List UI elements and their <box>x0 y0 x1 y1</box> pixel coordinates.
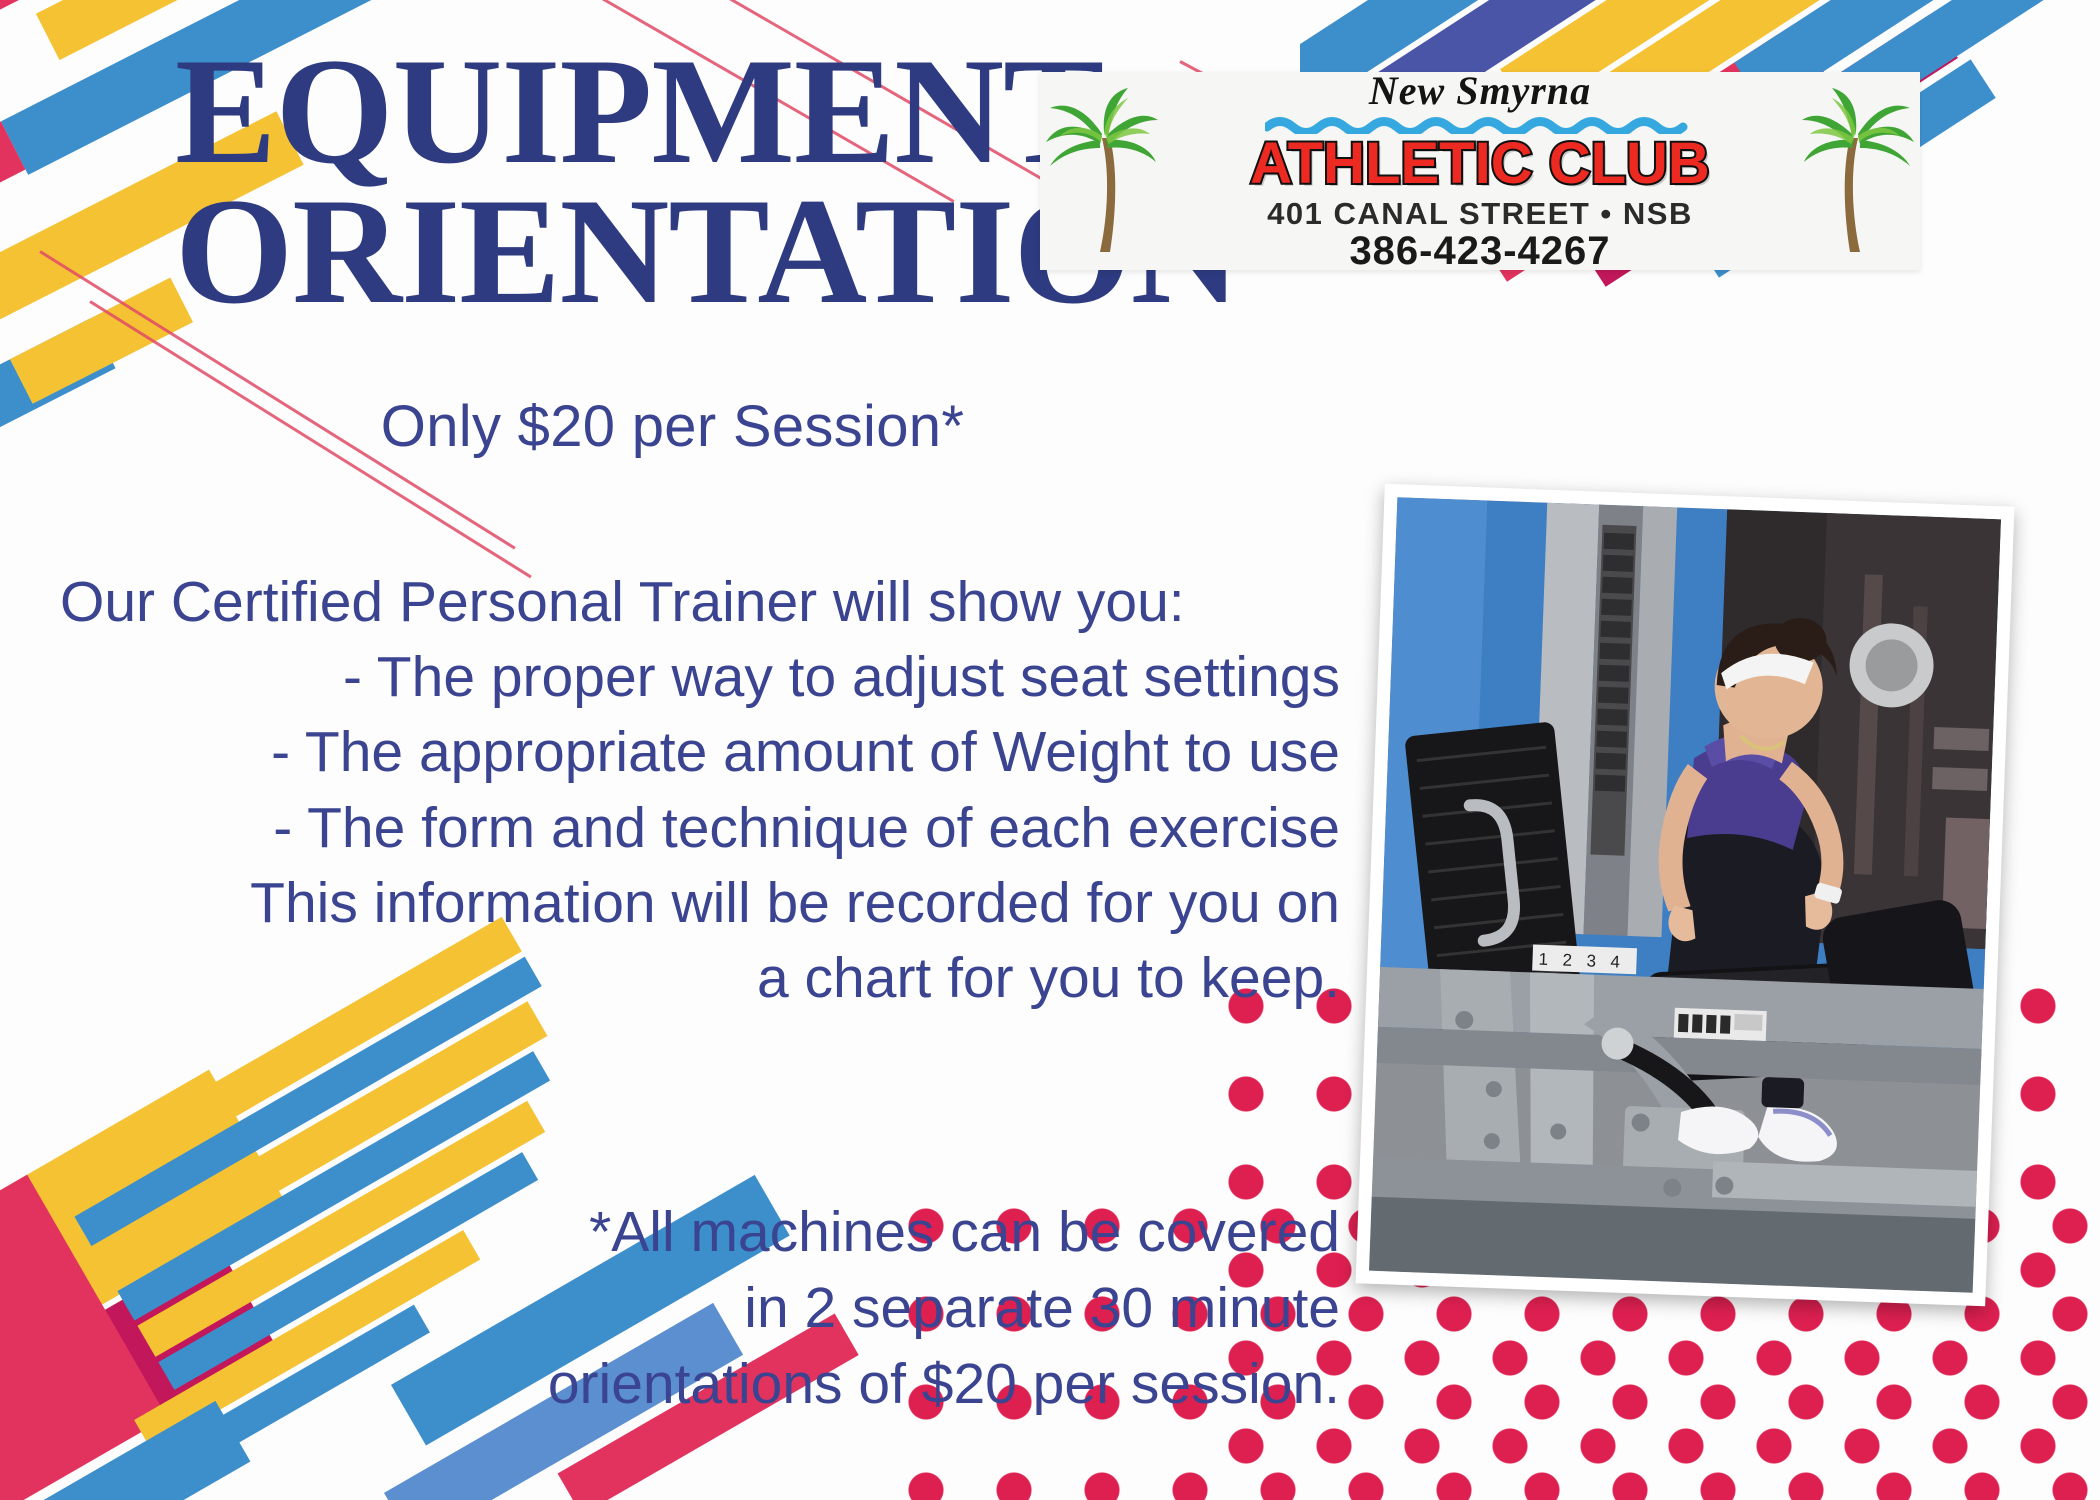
footnote-line-3: orientations of $20 per session. <box>20 1347 1340 1423</box>
athletic-club-logo: New Smyrna ATHLETIC CLUB 401 CANAL STREE… <box>1040 72 1920 270</box>
svg-text:1: 1 <box>1538 950 1548 969</box>
photo-illustration: 1 2 3 4 <box>1369 497 2001 1293</box>
photo-image: 1 2 3 4 <box>1369 497 2001 1293</box>
svg-text:2: 2 <box>1562 951 1572 970</box>
palm-tree-icon <box>1800 86 1920 256</box>
footnote-line-2: in 2 separate 30 minute <box>20 1271 1340 1347</box>
footnote-line-1: *All machines can be covered <box>20 1195 1340 1271</box>
flyer-canvas: EQUIPMENT ORIENTATION New Smyrna <box>0 0 2100 1500</box>
body-bullet-1: - The proper way to adjust seat settings <box>20 640 1340 715</box>
logo-script-name: New Smyrna <box>1369 72 1591 111</box>
footnote-copy: *All machines can be covered in 2 separa… <box>20 1195 1340 1422</box>
palm-tree-icon <box>1040 86 1160 256</box>
body-bullet-2: - The appropriate amount of Weight to us… <box>20 715 1340 790</box>
gym-equipment-photo: 1 2 3 4 <box>1356 484 2015 1307</box>
logo-club-name: ATHLETIC CLUB <box>1250 135 1710 193</box>
body-copy: Our Certified Personal Trainer will show… <box>20 565 1340 1016</box>
logo-text-stack: New Smyrna ATHLETIC CLUB 401 CANAL STREE… <box>1160 72 1800 270</box>
body-bullet-3: - The form and technique of each exercis… <box>20 791 1340 866</box>
body-note-line-1: This information will be recorded for yo… <box>20 866 1340 941</box>
logo-phone-number: 386-423-4267 <box>1349 231 1610 270</box>
page-title: EQUIPMENT ORIENTATION <box>175 42 1175 322</box>
svg-text:4: 4 <box>1610 952 1620 971</box>
logo-address: 401 CANAL STREET • NSB <box>1267 198 1693 229</box>
body-note-line-2: a chart for you to keep. <box>20 941 1340 1016</box>
body-lead-line: Our Certified Personal Trainer will show… <box>20 565 1340 640</box>
price-line: Only $20 per Session* <box>0 393 1345 460</box>
svg-text:3: 3 <box>1586 951 1596 970</box>
